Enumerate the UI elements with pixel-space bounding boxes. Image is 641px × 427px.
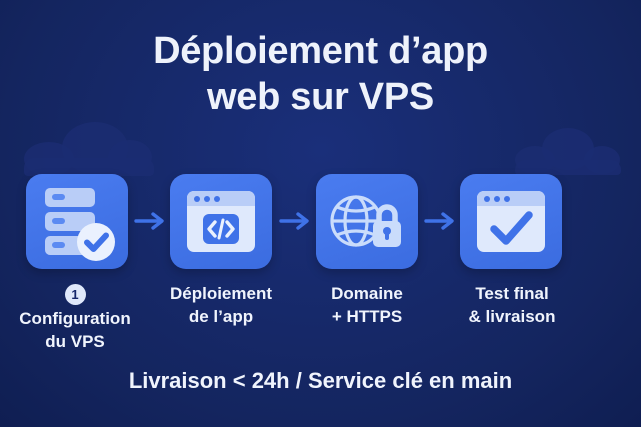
footer-tagline: Livraison < 24h / Service clé en main	[0, 368, 641, 394]
step-label-2-line-2: de l’app	[146, 305, 296, 328]
step-labels-row: 1 Configuration du VPS Déploiement de l’…	[0, 282, 641, 362]
step-card-domaine-https[interactable]	[316, 174, 418, 269]
globe-lock-icon	[316, 174, 418, 269]
arrow-step-2-to-3	[278, 208, 312, 234]
step-label-3: Domaine + HTTPS	[292, 282, 442, 328]
step-label-4-line-1: Test final	[437, 282, 587, 305]
step-number-badge-1: 1	[65, 284, 86, 305]
title-line-2: web sur VPS	[0, 74, 641, 120]
step-label-1-line-1: Configuration	[0, 307, 150, 330]
step-label-4-line-2: & livraison	[437, 305, 587, 328]
step-label-2: Déploiement de l’app	[146, 282, 296, 328]
browser-check-icon	[460, 174, 562, 269]
step-card-test-final-livraison[interactable]	[460, 174, 562, 269]
step-label-3-line-2: + HTTPS	[292, 305, 442, 328]
browser-code-icon	[170, 174, 272, 269]
step-card-deploiement-app[interactable]	[170, 174, 272, 269]
step-label-3-line-1: Domaine	[292, 282, 442, 305]
step-card-configuration-vps[interactable]	[26, 174, 128, 269]
arrow-step-1-to-2	[133, 208, 167, 234]
title-line-1: Déploiement d’app	[0, 28, 641, 74]
arrow-step-3-to-4	[423, 208, 457, 234]
steps-row	[0, 174, 641, 270]
infographic-poster: Déploiement d’app web sur VPS	[0, 0, 641, 427]
step-label-1: 1 Configuration du VPS	[0, 282, 150, 353]
step-label-2-line-1: Déploiement	[146, 282, 296, 305]
server-rack-check-icon	[26, 174, 128, 269]
step-label-4: Test final & livraison	[437, 282, 587, 328]
poster-title: Déploiement d’app web sur VPS	[0, 28, 641, 120]
step-label-1-line-2: du VPS	[0, 330, 150, 353]
